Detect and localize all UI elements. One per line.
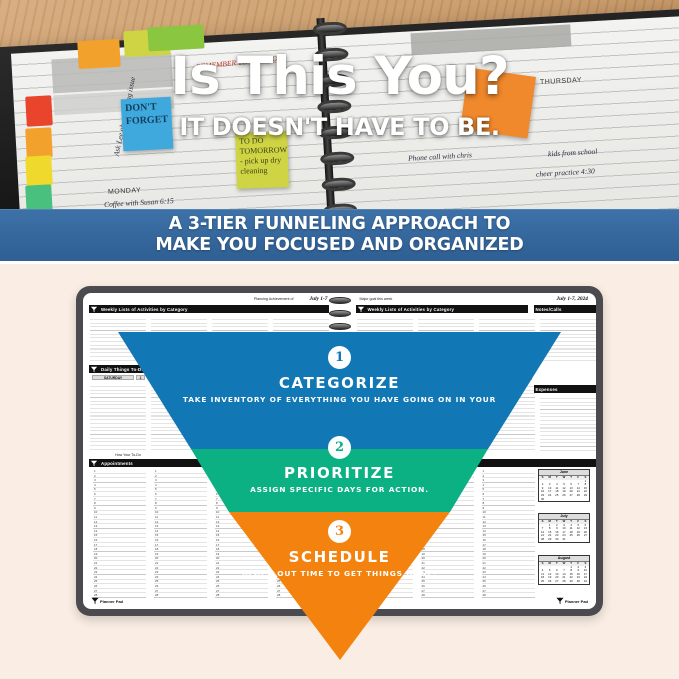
mini-calendar-day: 29 [568,580,575,584]
tier-3-description: BLOCK OUT TIME TO GET THINGS DONE. [240,569,440,579]
hero-photo: REMEMBER TO CALL JO! Ask Lee about billi… [0,0,679,209]
brand-label-right: Planner Pad [565,599,588,604]
mini-calendar-day [553,498,560,502]
funnel-icon [357,306,365,313]
mini-calendar-day: 27 [553,580,560,584]
right-section-notes-calls: Notes/Calls [534,305,596,313]
funnel-icon [91,597,99,605]
mini-calendar-day: 28 [560,580,567,584]
hero-title: Is This You? [0,52,679,102]
banner-bottom-rule [0,261,679,264]
appointment-row-number: 28 [483,593,486,598]
tier-1-name: CATEGORIZE [0,374,679,392]
mini-calendar-day: 31 [582,580,589,584]
mini-calendar-day: 25 [539,580,546,584]
brand-label-left: Planner Pad [100,599,123,604]
funnel-icon [556,597,564,605]
index-tab-yellow [25,155,53,186]
funnel-icon [90,306,98,313]
right-top-date: July 1-7, 2024 [556,296,588,302]
tier-3-badge: 3 [328,520,351,543]
right-section-weekly-lists: Weekly Lists of Activities by Category [356,305,528,313]
brand-logo-left: Planner Pad [91,597,123,605]
mini-calendar-day [582,498,589,502]
tier-3-name: SCHEDULE [0,548,679,566]
tier-1-badge: 1 [328,346,351,369]
banner-line-2: MAKE YOU FOCUSED AND ORGANIZED [155,235,523,256]
banner-line-1: A 3-TIER FUNNELING APPROACH TO [169,214,511,235]
tier-1-description: TAKE INVENTORY OF EVERYTHING YOU HAVE GO… [0,395,679,405]
left-top-date: July 1-7 [309,296,327,302]
mini-calendar-day [546,498,553,502]
mini-calendar-day [568,498,575,502]
mini-calendar-day: 30 [539,498,546,502]
appointment-row-number: 28 [216,593,219,598]
tier-2-description: ASSIGN SPECIFIC DAYS FOR ACTION. [0,485,679,495]
tier-2-badge: 2 [328,436,351,459]
hero-subtitle: IT DOESN'T HAVE TO BE. [0,113,679,141]
funnel-tier-3: 3 SCHEDULE BLOCK OUT TIME TO GET THINGS … [0,520,679,579]
appointment-row-number: 28 [155,593,158,598]
funnel-section: Planning Achievement of July 1-7 Weekly … [0,264,679,679]
mini-calendar-day [575,498,582,502]
index-tab-green [25,184,53,209]
right-top-caption: Major goal this week [360,297,393,301]
right-section-weekly-lists-label: Weekly Lists of Activities by Category [368,307,455,312]
funnel-tier-1: 1 CATEGORIZE TAKE INVENTORY OF EVERYTHIN… [0,346,679,405]
mini-calendar-day: 26 [546,580,553,584]
appointment-row-number: 28 [422,593,425,598]
mini-calendar-day [560,498,567,502]
tier-2-name: PRIORITIZE [0,464,679,482]
left-section-weekly-lists: Weekly Lists of Activities by Category [89,305,329,313]
funnel-tier-2: 2 PRIORITIZE ASSIGN SPECIFIC DAYS FOR AC… [0,436,679,495]
left-section-weekly-lists-label: Weekly Lists of Activities by Category [101,307,188,312]
tagline-banner: A 3-TIER FUNNELING APPROACH TO MAKE YOU … [0,209,679,261]
left-top-caption: Planning Achievement of [254,297,294,301]
appointment-row-number: 28 [361,593,364,598]
brand-logo-right: Planner Pad [556,597,588,605]
mini-calendar-day: 30 [575,580,582,584]
right-section-notes-calls-label: Notes/Calls [536,307,562,312]
appointment-row-number: 28 [277,593,280,598]
